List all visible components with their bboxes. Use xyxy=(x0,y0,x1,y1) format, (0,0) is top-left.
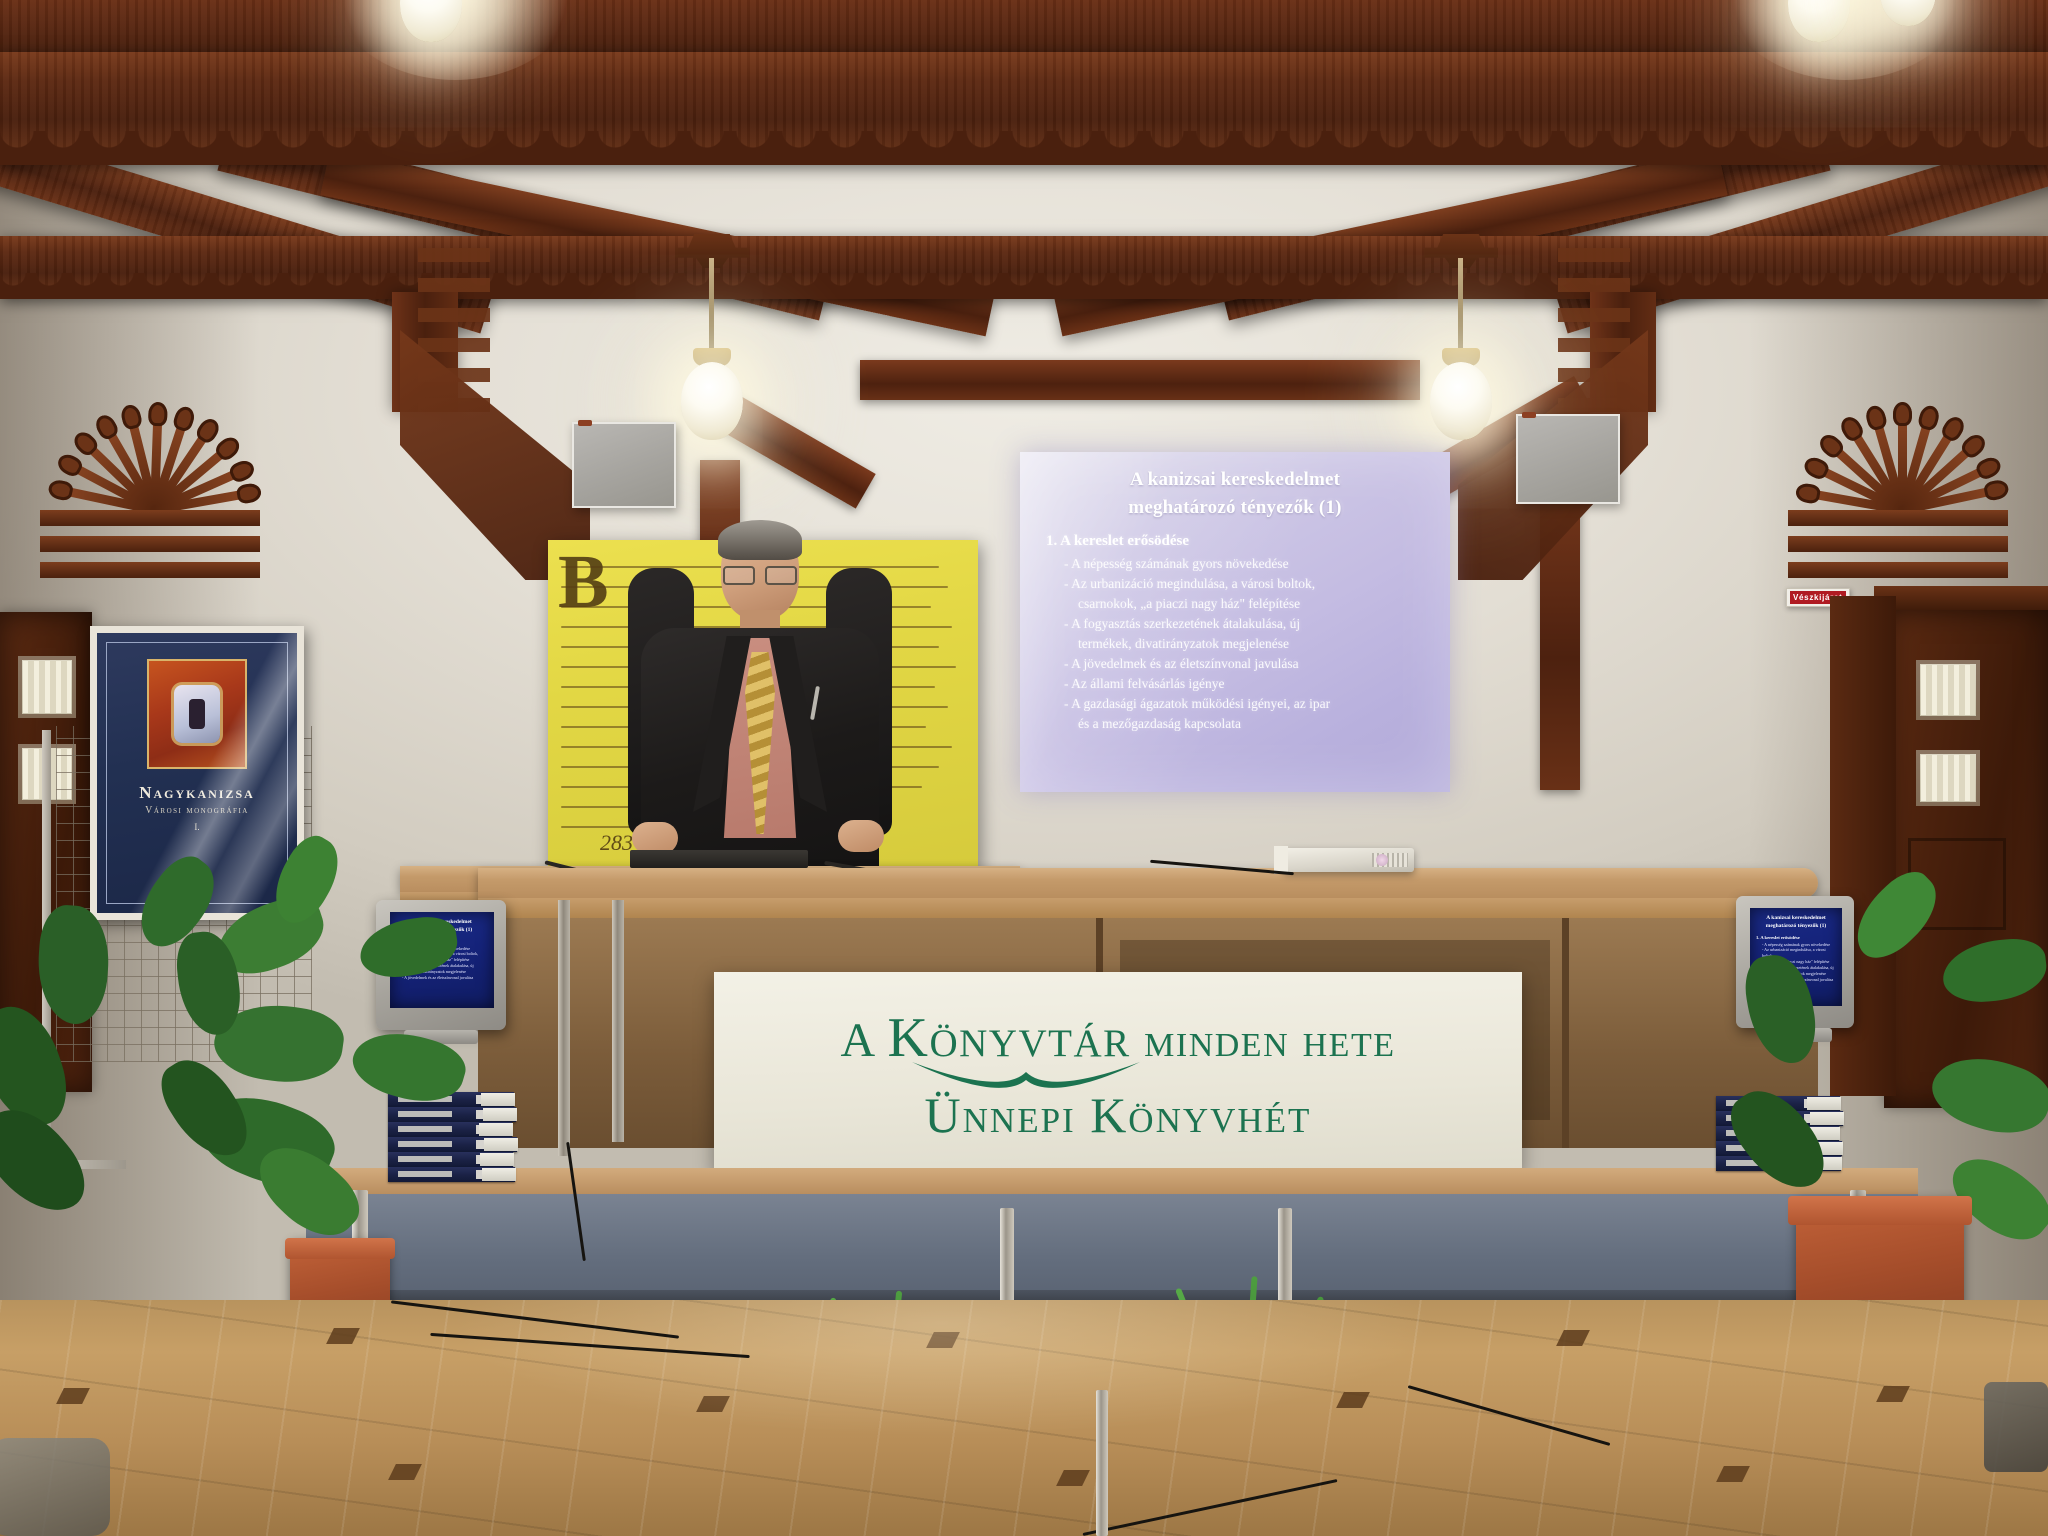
banner-line1-part-a: A xyxy=(841,1014,888,1067)
door-glass-upper-left xyxy=(18,656,76,718)
slide-bullet: - A fogyasztás szerkezetének átalakulása… xyxy=(1064,615,1432,633)
parquet-floor xyxy=(0,1300,2048,1536)
wall-speaker-right xyxy=(1516,414,1620,504)
lamp-cord-right xyxy=(1458,258,1463,352)
door-curtain xyxy=(23,661,71,713)
carved-fan-ornament-right xyxy=(1788,360,2008,510)
slide-bullet-list: - A népesség számának gyors növekedése -… xyxy=(1046,555,1432,733)
stage-table-divider-2 xyxy=(1562,918,1569,1148)
plant-right xyxy=(1820,910,2048,1240)
slide-title-line1: A kanizsai kereskedelmet xyxy=(1044,466,1426,494)
door-curtain xyxy=(1921,755,1975,801)
carved-fan-ornament-left xyxy=(40,360,260,510)
stage-long-table-apron xyxy=(478,898,1818,918)
slide-section-heading: 1. A kereslet erősödése xyxy=(1046,533,1432,550)
door-curtain xyxy=(1921,665,1975,715)
leaf xyxy=(346,1020,471,1112)
leaf xyxy=(1924,1043,2048,1146)
table-leg-left xyxy=(558,900,570,1156)
slide-bullet: termékek, divatirányzatok megjelenése xyxy=(1064,635,1432,653)
slide-title-line2: meghatározó tényezők (1) xyxy=(1044,494,1426,522)
eyeglasses-icon xyxy=(723,566,797,582)
ceiling-beam-second xyxy=(0,236,2048,298)
stage-long-table-top xyxy=(478,868,1818,898)
presenter-hand-right xyxy=(838,820,884,852)
floor-object-right xyxy=(1984,1382,2048,1472)
mic-stand-pole xyxy=(1096,1390,1108,1536)
door-glass-upper-right xyxy=(1916,660,1980,720)
pot-rim xyxy=(1788,1196,1973,1225)
door-glass-lower-right xyxy=(1916,750,1980,806)
event-banner: A Könyvtár minden hete Ünnepi Könyvhét xyxy=(714,972,1522,1172)
slide-title: A kanizsai kereskedelmet meghatározó tén… xyxy=(1020,452,1450,523)
leaf xyxy=(1940,935,2048,1006)
presenter-hair xyxy=(718,520,802,560)
banner-line1-part-c: minden hete xyxy=(1131,1014,1396,1067)
slide-bullet: csarnokok, „a piaczi nagy ház" felépítés… xyxy=(1064,595,1432,613)
floor-object-left xyxy=(0,1438,110,1536)
door-lintel-right xyxy=(1874,586,2048,610)
floor-light-sheen xyxy=(0,1300,2048,1536)
laptop-lid xyxy=(630,850,808,868)
beam-scallop-trim xyxy=(0,131,2048,165)
slide-bullet: - Az urbanizáció megindulása, a városi b… xyxy=(1064,575,1432,593)
projector-lens-icon xyxy=(1376,854,1388,866)
slide-body: 1. A kereslet erősödése - A népesség szá… xyxy=(1020,523,1450,733)
lamp-globe-right xyxy=(1430,362,1492,440)
presentation-hall-photo: A kanizsai kereskedelmet meghatározó tén… xyxy=(0,0,2048,1536)
presenter xyxy=(640,524,880,884)
slide-bullet: és a mezőgazdaság kapcsolata xyxy=(1064,715,1432,733)
wall-speaker-left xyxy=(572,422,676,508)
banner-line-2: Ünnepi Könyvhét xyxy=(714,1086,1522,1144)
plant-left-stage xyxy=(236,880,466,1240)
slide-bullet: - A népesség számának gyors növekedése xyxy=(1064,555,1432,573)
slide-bullet: - A gazdasági ágazatok működési igényei,… xyxy=(1064,695,1432,713)
lamp-cord-left xyxy=(709,258,714,352)
projection-screen: A kanizsai kereskedelmet meghatározó tén… xyxy=(1020,452,1450,792)
lamp-globe-left xyxy=(681,362,743,440)
slide-bullet: - Az állami felvásárlás igénye xyxy=(1064,675,1432,693)
leaf xyxy=(356,913,461,982)
pen-clip-icon xyxy=(810,686,820,720)
stage-platform-top xyxy=(306,1168,1918,1194)
projector[interactable] xyxy=(1284,848,1414,872)
table-leg-inner xyxy=(612,900,624,1142)
slide-bullet: - A jövedelmek és az életszínvonal javul… xyxy=(1064,655,1432,673)
ceiling-beam-main xyxy=(0,52,2048,164)
pot-rim xyxy=(285,1238,395,1259)
